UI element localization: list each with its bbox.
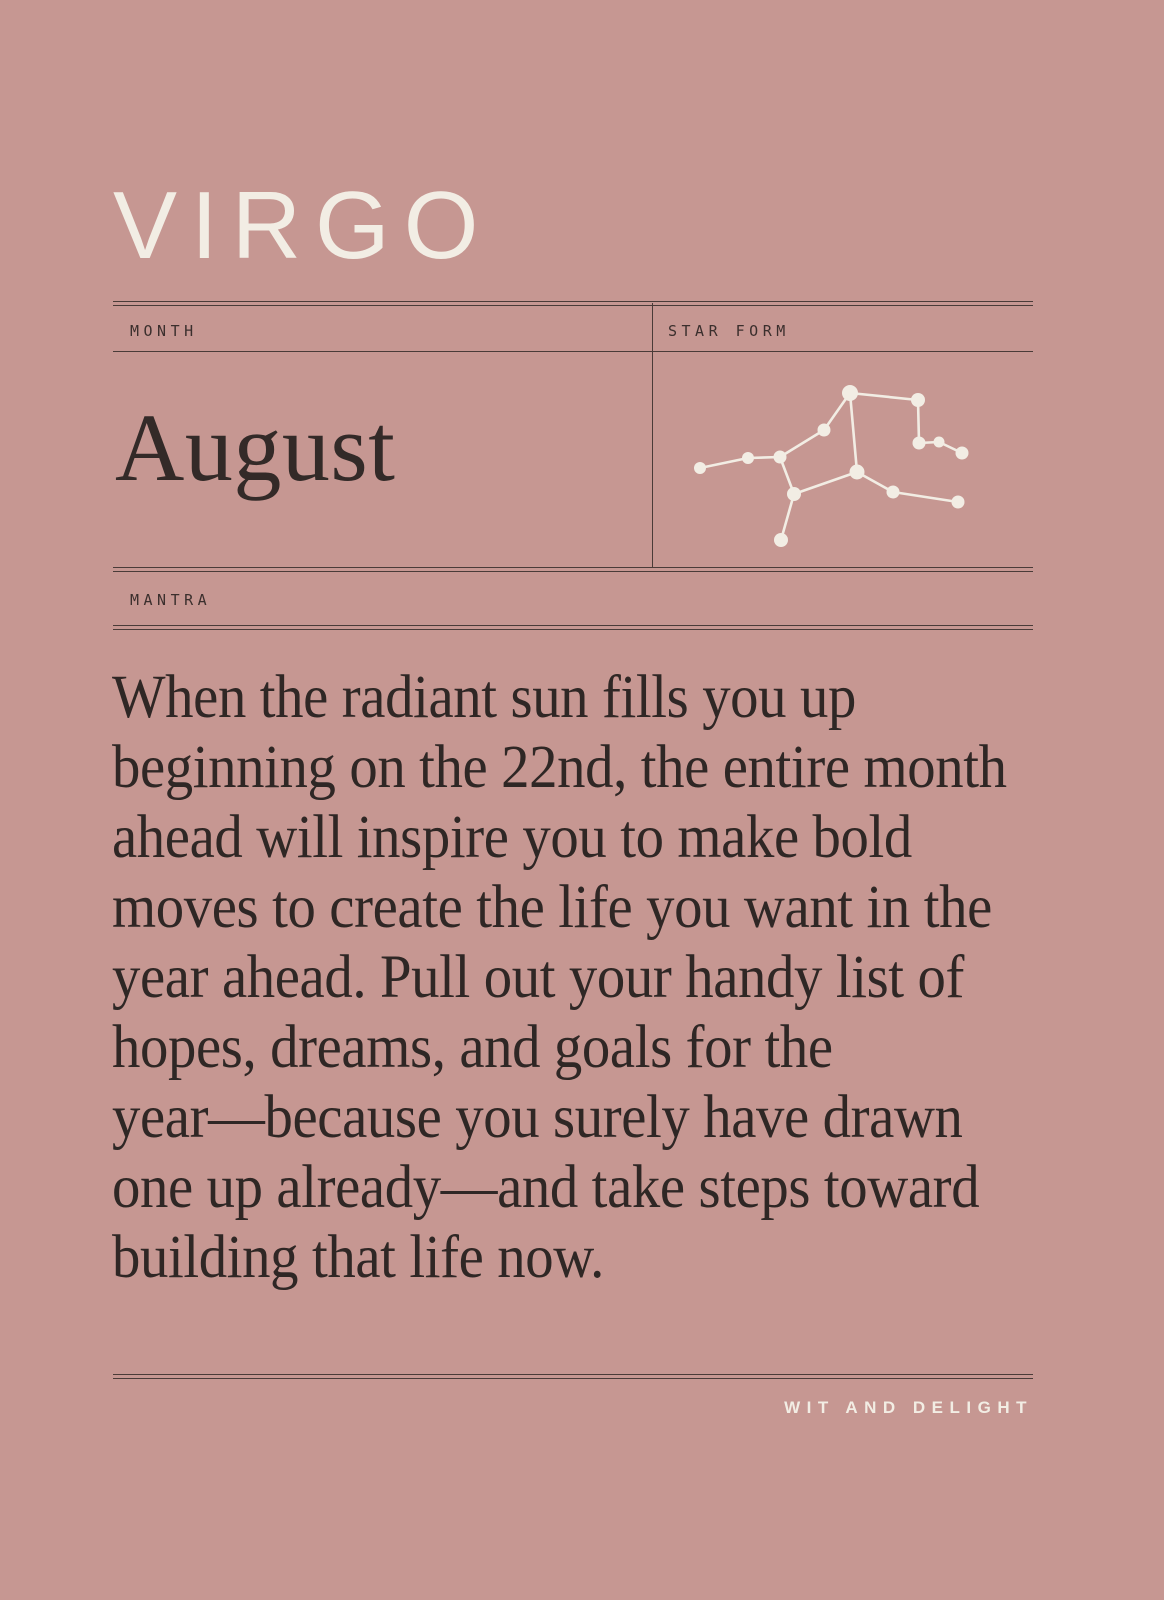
mantra-line: year—because you surely have drawn — [112, 1083, 977, 1153]
constellation-stars — [694, 385, 969, 547]
star-point — [911, 393, 925, 407]
constellation-link — [850, 393, 918, 400]
rule-above-footer — [113, 1374, 1033, 1379]
star-point — [742, 452, 754, 464]
star-point — [952, 496, 965, 509]
footer-brand: WIT AND DELIGHT — [784, 1398, 1033, 1418]
star-point — [887, 486, 900, 499]
mantra-line: one up already—and take steps toward — [112, 1153, 977, 1223]
month-value: August — [115, 398, 395, 499]
constellation-link — [700, 458, 748, 468]
star-point — [956, 447, 969, 460]
star-point — [694, 462, 706, 474]
mantra-line: When the radiant sun fills you up — [112, 663, 977, 733]
star-form-panel — [652, 352, 1033, 567]
field-label-star-form: STAR FORM — [668, 322, 790, 340]
star-point — [774, 451, 787, 464]
mantra-line: moves to create the life you want in the — [112, 873, 977, 943]
mantra-line: hopes, dreams, and goals for the — [112, 1013, 977, 1083]
mantra-line: ahead will inspire you to make bold — [112, 803, 977, 873]
rule-below-month-row — [113, 567, 1033, 572]
field-label-mantra: MANTRA — [130, 591, 211, 609]
mantra-line: beginning on the 22nd, the entire month — [112, 733, 977, 803]
rule-below-mantra-label — [113, 625, 1033, 630]
constellation-link — [794, 472, 857, 494]
star-point — [842, 385, 858, 401]
mantra-line: building that life now. — [112, 1223, 977, 1293]
star-point — [787, 487, 801, 501]
constellation-link — [850, 393, 857, 472]
star-point — [774, 533, 788, 547]
star-point — [850, 465, 865, 480]
star-point — [934, 437, 945, 448]
poster-canvas: VIRGO MONTH STAR FORM MANTRA August When… — [0, 0, 1164, 1600]
constellation-link — [893, 492, 958, 502]
rule-above-labels — [113, 301, 1033, 306]
constellation-lines — [700, 393, 962, 540]
title-zone: VIRGO — [113, 178, 1033, 274]
mantra-line: year ahead. Pull out your handy list of — [112, 943, 977, 1013]
mantra-text: When the radiant sun fills you upbeginni… — [112, 663, 977, 1293]
constellation-link — [781, 494, 794, 540]
constellation-link — [780, 430, 824, 457]
page-title: VIRGO — [113, 178, 1033, 274]
star-point — [818, 424, 831, 437]
field-label-month: MONTH — [130, 322, 198, 340]
virgo-constellation-icon — [652, 352, 1033, 567]
star-point — [913, 437, 926, 450]
